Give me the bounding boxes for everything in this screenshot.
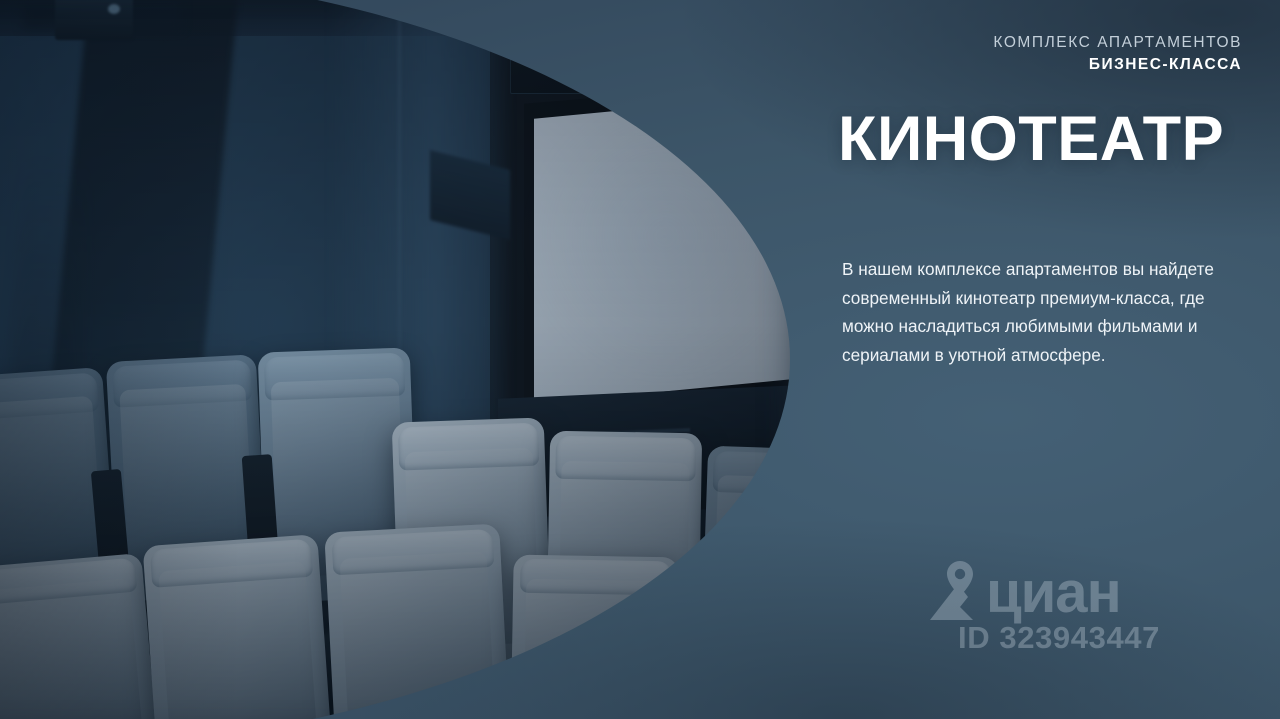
eyebrow-line-2: БИЗНЕС-КЛАССА [993,55,1242,74]
description-text: В нашем комплексе апартаментов вы найдет… [842,255,1246,369]
page-title: КИНОТЕАТР [838,108,1224,171]
promo-slide: КОМПЛЕКС АПАРТАМЕНТОВ БИЗНЕС-КЛАССА КИНО… [0,0,1280,719]
eyebrow-line-1: КОМПЛЕКС АПАРТАМЕНТОВ [993,33,1242,52]
eyebrow-heading: КОМПЛЕКС АПАРТАМЕНТОВ БИЗНЕС-КЛАССА [993,33,1242,74]
